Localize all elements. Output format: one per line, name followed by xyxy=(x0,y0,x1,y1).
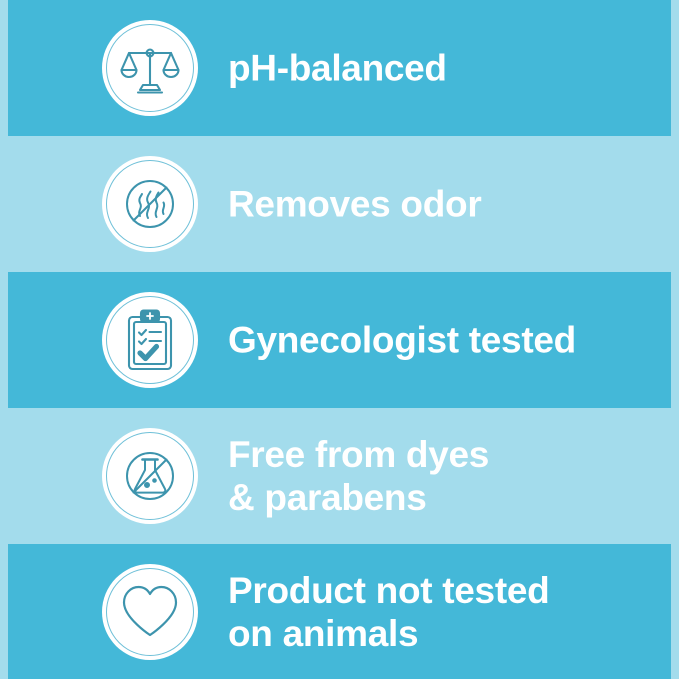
no-flask-icon xyxy=(102,428,198,524)
benefit-row-ph-balanced: pH-balanced xyxy=(0,0,679,136)
clipboard-checklist-icon xyxy=(102,292,198,388)
benefit-icon-wrapper xyxy=(102,156,198,252)
benefit-label: pH-balanced xyxy=(228,47,447,90)
benefit-label: Product not tested on animals xyxy=(228,569,549,655)
benefit-row-gynecologist-tested: Gynecologist tested xyxy=(0,272,679,408)
benefit-row-removes-odor: Removes odor xyxy=(0,136,679,272)
heart-icon xyxy=(102,564,198,660)
benefit-icon-wrapper xyxy=(102,428,198,524)
benefits-infographic: pH-balanced Removes odor xyxy=(0,0,679,679)
benefit-icon-wrapper xyxy=(102,564,198,660)
no-odor-icon xyxy=(102,156,198,252)
benefit-row-not-tested-on-animals: Product not tested on animals xyxy=(0,544,679,679)
balance-scales-icon xyxy=(102,20,198,116)
benefit-label: Removes odor xyxy=(228,183,481,226)
benefit-icon-wrapper xyxy=(102,20,198,116)
benefit-icon-wrapper xyxy=(102,292,198,388)
benefit-label: Gynecologist tested xyxy=(228,319,576,362)
benefit-label: Free from dyes & parabens xyxy=(228,433,489,519)
benefit-row-free-from-dyes: Free from dyes & parabens xyxy=(0,408,679,544)
